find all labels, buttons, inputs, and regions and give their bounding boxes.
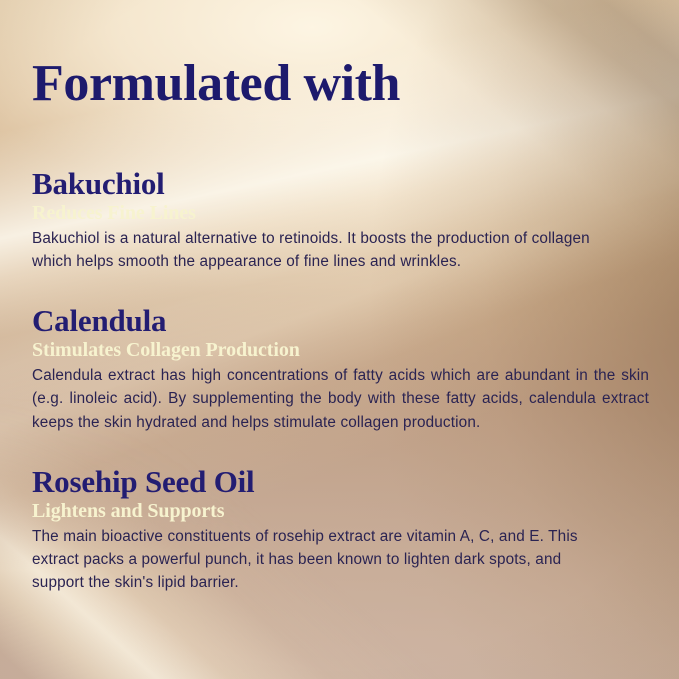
ingredient-section-calendula: Calendula Stimulates Collagen Production… [32,305,650,434]
ingredient-name: Bakuchiol [32,168,650,201]
ingredient-name: Rosehip Seed Oil [32,466,650,499]
ingredient-infographic: Formulated with Bakuchiol Reduces Fine L… [0,0,679,679]
ingredient-description: Bakuchiol is a natural alternative to re… [32,227,592,274]
content-area: Formulated with Bakuchiol Reduces Fine L… [0,0,679,679]
ingredient-section-bakuchiol: Bakuchiol Reduces Fine Lines Bakuchiol i… [32,168,650,273]
ingredient-benefit: Lightens and Supports [32,500,650,522]
ingredient-benefit: Stimulates Collagen Production [32,339,650,361]
ingredient-name: Calendula [32,305,650,338]
ingredient-description: The main bioactive constituents of roseh… [32,525,584,595]
ingredient-benefit: Reduces Fine Lines [32,202,650,224]
ingredient-description: Calendula extract has high concentration… [32,364,649,434]
ingredient-section-rosehip-seed-oil: Rosehip Seed Oil Lightens and Supports T… [32,466,650,595]
page-title: Formulated with [32,58,400,110]
ingredient-list: Bakuchiol Reduces Fine Lines Bakuchiol i… [32,168,650,595]
